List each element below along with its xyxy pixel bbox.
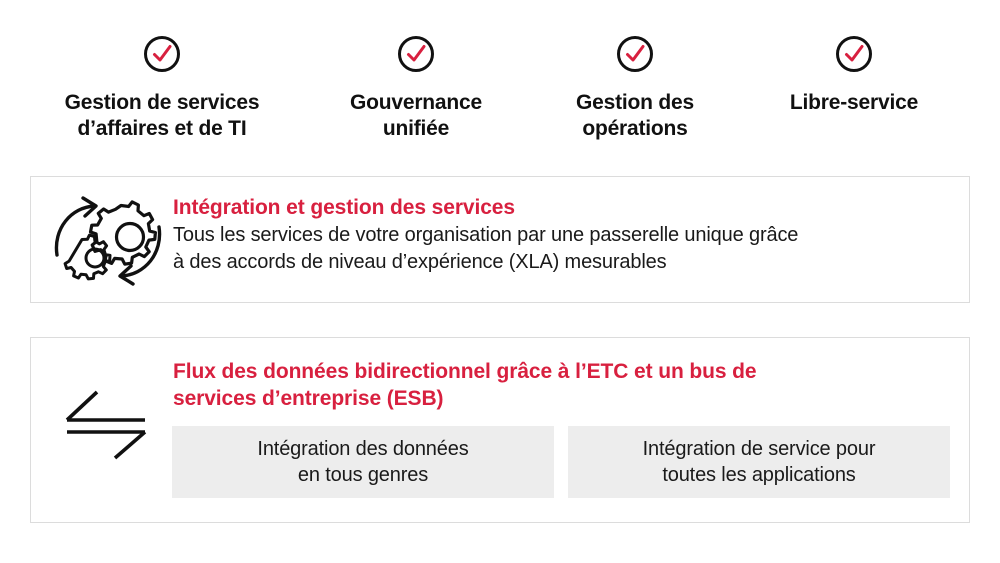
check-circle-icon	[834, 34, 874, 74]
feature-item-gestion-de-services: Gestion de services d’affaires et de TI	[12, 34, 312, 142]
check-circle-icon	[396, 34, 436, 74]
card-body: Flux des données bidirectionnel grâce à …	[173, 358, 951, 413]
feature-label: Gestion des opérations	[525, 90, 745, 142]
feature-row: Gestion de services d’affaires et de TI …	[0, 0, 1000, 168]
feature-item-gouvernance-unifiee: Gouvernance unifiée	[306, 34, 526, 142]
chip-integration-service: Intégration de service pour toutes les a…	[568, 426, 950, 498]
card-title: Intégration et gestion des services	[173, 194, 951, 221]
check-circle-icon	[142, 34, 182, 74]
feature-label: Gestion de services d’affaires et de TI	[12, 90, 312, 142]
feature-item-libre-service: Libre-service	[744, 34, 964, 116]
card-title: Flux des données bidirectionnel grâce à …	[173, 358, 951, 412]
gears-cycle-icon	[49, 193, 167, 289]
feature-label: Gouvernance unifiée	[306, 90, 526, 142]
check-circle-icon	[615, 34, 655, 74]
chip-row: Intégration des données en tous genres I…	[172, 426, 950, 498]
feature-label: Libre-service	[744, 90, 964, 116]
chip-integration-donnees: Intégration des données en tous genres	[172, 426, 554, 498]
card-integration-gestion-services: Intégration et gestion des services Tous…	[30, 176, 970, 303]
card-body: Intégration et gestion des services Tous…	[173, 194, 951, 276]
bidirectional-flow-icon	[61, 386, 157, 462]
card-description: Tous les services de votre organisation …	[173, 222, 951, 276]
feature-item-gestion-des-operations: Gestion des opérations	[525, 34, 745, 142]
